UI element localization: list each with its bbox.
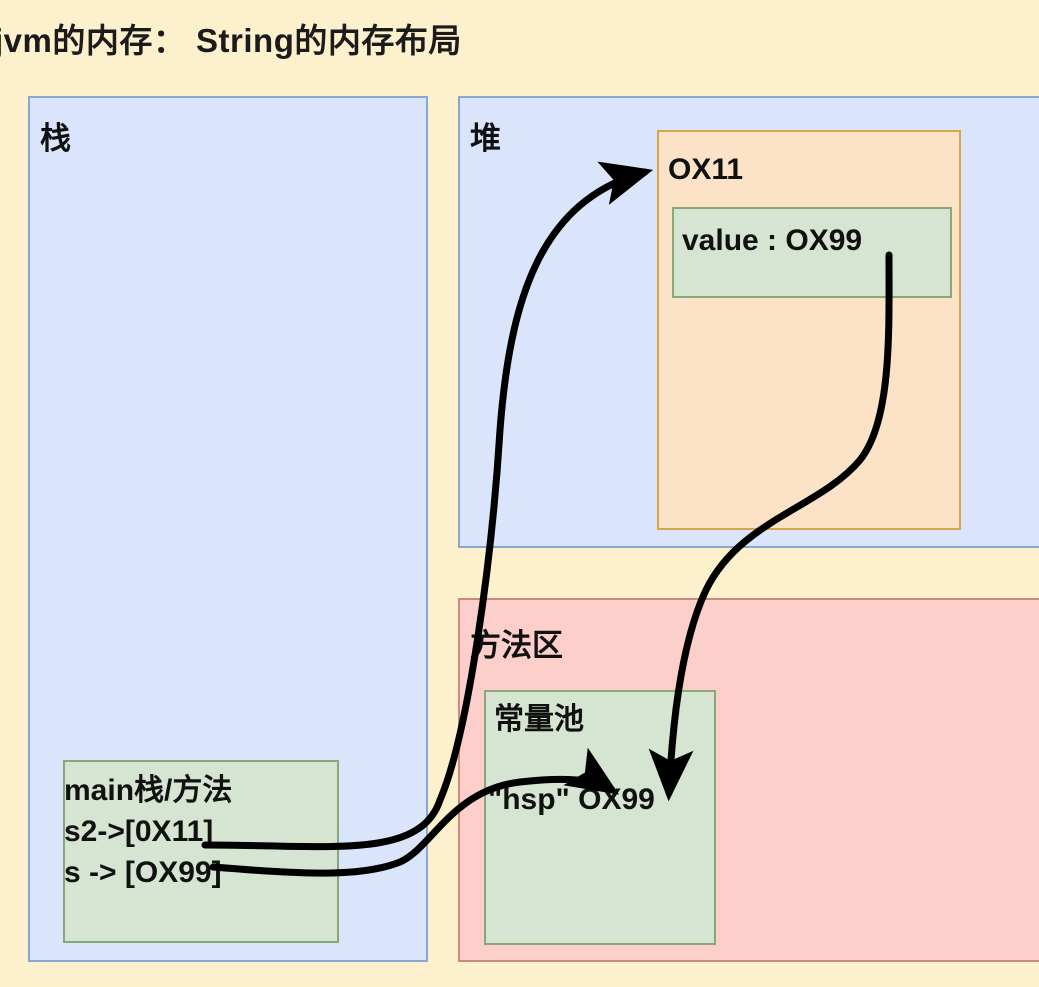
- main-frame-line-2: s2->[0X11]: [64, 812, 213, 852]
- value-field-label: value : OX99: [682, 221, 862, 261]
- diagram-canvas: jvm的内存： String的内存布局 栈 堆 OX11 value : OX9…: [0, 0, 1039, 987]
- method-area-label: 方法区: [470, 620, 563, 665]
- page-title: jvm的内存： String的内存布局: [0, 14, 462, 62]
- constant-pool-label: 常量池: [494, 700, 584, 740]
- main-frame-line-3: s -> [OX99]: [64, 853, 222, 893]
- heap-object-label: OX11: [668, 150, 743, 190]
- constant-pool-entry: "hsp" OX99: [488, 780, 655, 820]
- heap-object-box: [657, 130, 961, 530]
- stack-region-label: 栈: [40, 113, 71, 158]
- heap-region-label: 堆: [470, 113, 501, 158]
- main-frame-line-1: main栈/方法: [64, 771, 232, 811]
